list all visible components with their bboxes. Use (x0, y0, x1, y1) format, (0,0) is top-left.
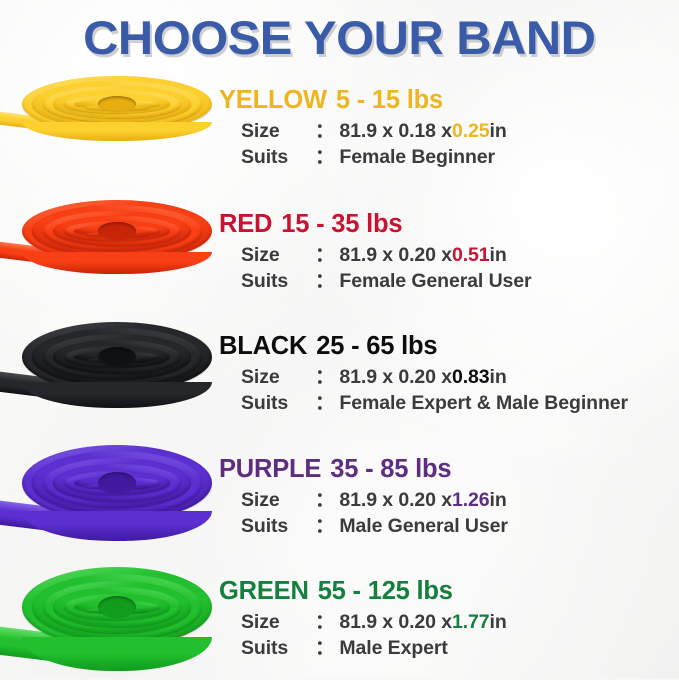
band-row-purple: PURPLE35 - 85 lbs Size：81.9 x 0.20 x 1.2… (0, 437, 679, 558)
band-info-purple: PURPLE35 - 85 lbs Size：81.9 x 0.20 x 1.2… (212, 455, 679, 540)
page-title: CHOOSE YOUR BAND (83, 10, 595, 65)
band-front-edge-green (22, 637, 212, 671)
band-info-yellow: YELLOW5 - 15 lbs Size：81.9 x 0.18 x 0.25… (212, 86, 679, 171)
band-photo-red (0, 192, 212, 313)
band-photo-yellow (0, 68, 212, 189)
size-value-prefix-green: 81.9 x 0.20 x (339, 609, 452, 636)
suits-value-red: Female General User (339, 268, 531, 295)
band-suits-row-red: Suits：Female General User (241, 268, 675, 295)
band-name-red: RED (219, 210, 272, 238)
band-coil-core-green (98, 596, 136, 618)
size-thickness-red: 0.51 (452, 242, 490, 269)
size-colon: ： (315, 118, 334, 145)
size-label: Size (241, 118, 315, 145)
size-unit-yellow: in (490, 118, 507, 145)
band-suits-row-purple: Suits：Male General User (241, 513, 675, 540)
suits-label: Suits (241, 635, 315, 662)
band-coil-black (22, 322, 212, 406)
size-unit-green: in (490, 609, 507, 636)
suits-colon: ： (315, 390, 334, 417)
band-row-black: BLACK25 - 65 lbs Size：81.9 x 0.20 x 0.83… (0, 314, 679, 435)
size-value-prefix-black: 81.9 x 0.20 x (339, 364, 452, 391)
band-front-edge-purple (22, 511, 212, 541)
size-thickness-green: 1.77 (452, 609, 490, 636)
band-coil-purple (22, 445, 212, 529)
suits-colon: ： (315, 635, 334, 662)
band-resistance-black: 25 - 65 lbs (316, 332, 437, 360)
size-colon: ： (315, 609, 334, 636)
band-coil-core-red (98, 222, 136, 239)
band-coil-core-purple (98, 472, 136, 493)
suits-label: Suits (241, 268, 315, 295)
band-suits-row-black: Suits：Female Expert & Male Beginner (241, 390, 675, 417)
band-coil-core-yellow (98, 96, 136, 112)
suits-value-purple: Male General User (339, 513, 507, 540)
band-front-edge-yellow (22, 122, 212, 141)
size-value-prefix-yellow: 81.9 x 0.18 x (339, 118, 452, 145)
band-resistance-purple: 35 - 85 lbs (330, 455, 451, 483)
suits-value-black: Female Expert & Male Beginner (339, 390, 628, 417)
band-heading-purple: PURPLE35 - 85 lbs (219, 455, 675, 484)
band-photo-black (0, 314, 212, 435)
band-suits-row-yellow: Suits：Female Beginner (241, 144, 675, 171)
size-value-prefix-red: 81.9 x 0.20 x (339, 242, 452, 269)
band-size-row-green: Size：81.9 x 0.20 x 1.77 in (241, 609, 675, 636)
size-unit-purple: in (490, 487, 507, 514)
band-row-yellow: YELLOW5 - 15 lbs Size：81.9 x 0.18 x 0.25… (0, 68, 679, 189)
size-colon: ： (315, 242, 334, 269)
size-thickness-black: 0.83 (452, 364, 490, 391)
band-size-row-purple: Size：81.9 x 0.20 x 1.26 in (241, 487, 675, 514)
band-resistance-yellow: 5 - 15 lbs (336, 86, 443, 114)
band-heading-yellow: YELLOW5 - 15 lbs (219, 86, 675, 115)
band-heading-green: GREEN55 - 125 lbs (219, 577, 675, 606)
suits-colon: ： (315, 144, 334, 171)
page-title-container: CHOOSE YOUR BAND (0, 6, 679, 68)
band-name-purple: PURPLE (219, 455, 321, 483)
band-front-edge-black (22, 382, 212, 408)
band-info-red: RED15 - 35 lbs Size：81.9 x 0.20 x 0.51 i… (212, 210, 679, 295)
band-front-edge-red (22, 252, 212, 274)
size-label: Size (241, 242, 315, 269)
band-heading-black: BLACK25 - 65 lbs (219, 332, 675, 361)
size-label: Size (241, 487, 315, 514)
band-name-black: BLACK (219, 332, 307, 360)
band-info-black: BLACK25 - 65 lbs Size：81.9 x 0.20 x 0.83… (212, 332, 679, 417)
band-coil-red (22, 200, 212, 284)
size-unit-red: in (490, 242, 507, 269)
band-name-yellow: YELLOW (219, 86, 327, 114)
suits-colon: ： (315, 268, 334, 295)
band-resistance-red: 15 - 35 lbs (281, 210, 402, 238)
size-colon: ： (315, 487, 334, 514)
size-thickness-yellow: 0.25 (452, 118, 490, 145)
infographic-page: CHOOSE YOUR BAND YELLOW5 - 15 lbs Size：8… (0, 0, 679, 679)
suits-value-yellow: Female Beginner (339, 144, 495, 171)
size-label: Size (241, 609, 315, 636)
band-coil-green (22, 567, 212, 651)
band-heading-red: RED15 - 35 lbs (219, 210, 675, 239)
band-row-green: GREEN55 - 125 lbs Size：81.9 x 0.20 x 1.7… (0, 559, 679, 680)
band-size-row-red: Size：81.9 x 0.20 x 0.51 in (241, 242, 675, 269)
band-row-red: RED15 - 35 lbs Size：81.9 x 0.20 x 0.51 i… (0, 192, 679, 313)
band-size-row-black: Size：81.9 x 0.20 x 0.83 in (241, 364, 675, 391)
band-coil-core-black (98, 347, 136, 367)
band-suits-row-green: Suits：Male Expert (241, 635, 675, 662)
suits-label: Suits (241, 513, 315, 540)
band-photo-green (0, 559, 212, 680)
band-size-row-yellow: Size：81.9 x 0.18 x 0.25 in (241, 118, 675, 145)
band-resistance-green: 55 - 125 lbs (318, 577, 453, 605)
size-colon: ： (315, 364, 334, 391)
suits-colon: ： (315, 513, 334, 540)
suits-label: Suits (241, 144, 315, 171)
band-coil-yellow (22, 76, 212, 160)
size-unit-black: in (490, 364, 507, 391)
size-value-prefix-purple: 81.9 x 0.20 x (339, 487, 452, 514)
suits-value-green: Male Expert (339, 635, 447, 662)
size-label: Size (241, 364, 315, 391)
band-name-green: GREEN (219, 577, 309, 605)
band-info-green: GREEN55 - 125 lbs Size：81.9 x 0.20 x 1.7… (212, 577, 679, 662)
size-thickness-purple: 1.26 (452, 487, 490, 514)
suits-label: Suits (241, 390, 315, 417)
band-photo-purple (0, 437, 212, 558)
